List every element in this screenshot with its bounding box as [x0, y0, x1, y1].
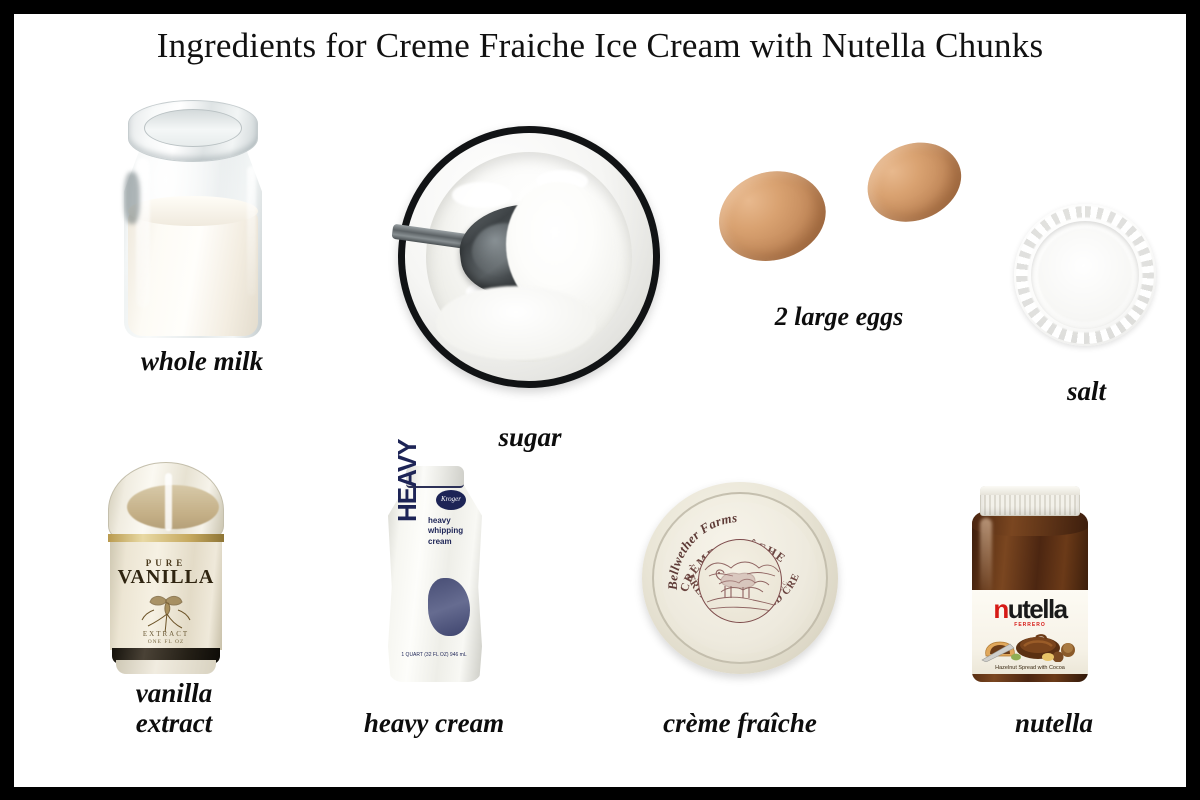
label-text-vanilla: VANILLA	[110, 566, 222, 589]
bottle-shoulder	[108, 462, 224, 540]
sub-line-1: heavy	[428, 516, 463, 526]
jar-cap-top	[980, 486, 1080, 495]
label-text-extract: EXTRACT	[110, 630, 222, 638]
poster-canvas: Ingredients for Creme Fraiche Ice Cream …	[14, 14, 1186, 787]
heavy-wordmark: HEAVY	[392, 439, 423, 522]
brand-seal-icon: Kroger	[436, 490, 466, 510]
bottle-volume-text: 1 QUART (32 FL OZ) 946 mL	[400, 652, 468, 660]
bottle-gold-band	[108, 534, 224, 542]
vanilla-orchid-illustration	[134, 590, 198, 634]
label-vanilla-extract: vanilla extract	[54, 678, 294, 738]
label-heavy-cream: heavy cream	[314, 708, 554, 738]
label-nutella: nutella	[944, 708, 1164, 738]
cow-illustration-svg	[699, 540, 782, 623]
nutella-label: nutella FERRERO	[972, 590, 1088, 674]
label-whole-milk: whole milk	[74, 346, 330, 376]
cow-pasture-illustration	[698, 539, 782, 623]
bread-and-spread-illustration	[980, 630, 1080, 662]
label-eggs: 2 large eggs	[704, 302, 974, 331]
jar-shadow	[124, 172, 140, 224]
label-salt: salt	[999, 376, 1174, 406]
sugar-bowl-with-scoop-icon	[398, 126, 660, 388]
ferrero-text: FERRERO	[972, 622, 1088, 628]
jar-opening	[144, 109, 242, 147]
heavy-cream-bottle-icon: Kroger HEAVY heavy whipping cream 1 QUAR…	[382, 466, 486, 682]
sugar-mound-front	[436, 286, 596, 360]
label-creme-fraiche: crème fraîche	[610, 708, 870, 738]
sub-line-3: cream	[428, 537, 463, 547]
label-text-volume: ONE FL OZ	[110, 639, 222, 645]
jar-gloss	[980, 518, 992, 594]
egg-left	[708, 159, 836, 273]
vanilla-extract-bottle-icon: PURE VANILLA EXTRACT ONE FL OZ	[102, 462, 230, 674]
bottle-foot	[116, 660, 216, 674]
brand-seal-text: Kroger	[436, 495, 466, 503]
ingredients-poster: Ingredients for Creme Fraiche Ice Cream …	[0, 0, 1200, 800]
creme-fraiche-tub-icon: Bellwether Farms CRÈME FRAÎCHE FRENCH CU…	[642, 482, 838, 674]
page-title: Ingredients for Creme Fraiche Ice Cream …	[14, 26, 1186, 66]
sub-line-2: whipping	[428, 526, 463, 536]
bottle-liquid	[127, 485, 219, 529]
bottle-highlight	[165, 473, 172, 531]
glass-milk-jar-icon	[110, 100, 276, 338]
jar-highlight-right	[247, 166, 256, 296]
tub-lid-face: Bellwether Farms CRÈME FRAÎCHE FRENCH CU…	[662, 502, 818, 654]
nutella-tagline: Hazelnut Spread with Cocoa	[972, 665, 1088, 671]
nutella-wordmark-rest: utella	[1008, 594, 1067, 624]
egg-right	[855, 129, 972, 235]
label-sugar: sugar	[380, 422, 680, 452]
heavy-sub-text: heavy whipping cream	[428, 516, 463, 547]
nutella-wordmark-n: n	[993, 594, 1007, 624]
vanilla-label: PURE VANILLA EXTRACT ONE FL OZ	[110, 542, 222, 650]
brown-eggs-icon	[704, 142, 974, 282]
fluted-salt-dish-icon	[1014, 204, 1156, 346]
salt-fill	[1038, 228, 1132, 322]
nutella-jar-icon: nutella FERRERO	[964, 486, 1096, 682]
nutella-wordmark: nutella	[972, 596, 1088, 622]
